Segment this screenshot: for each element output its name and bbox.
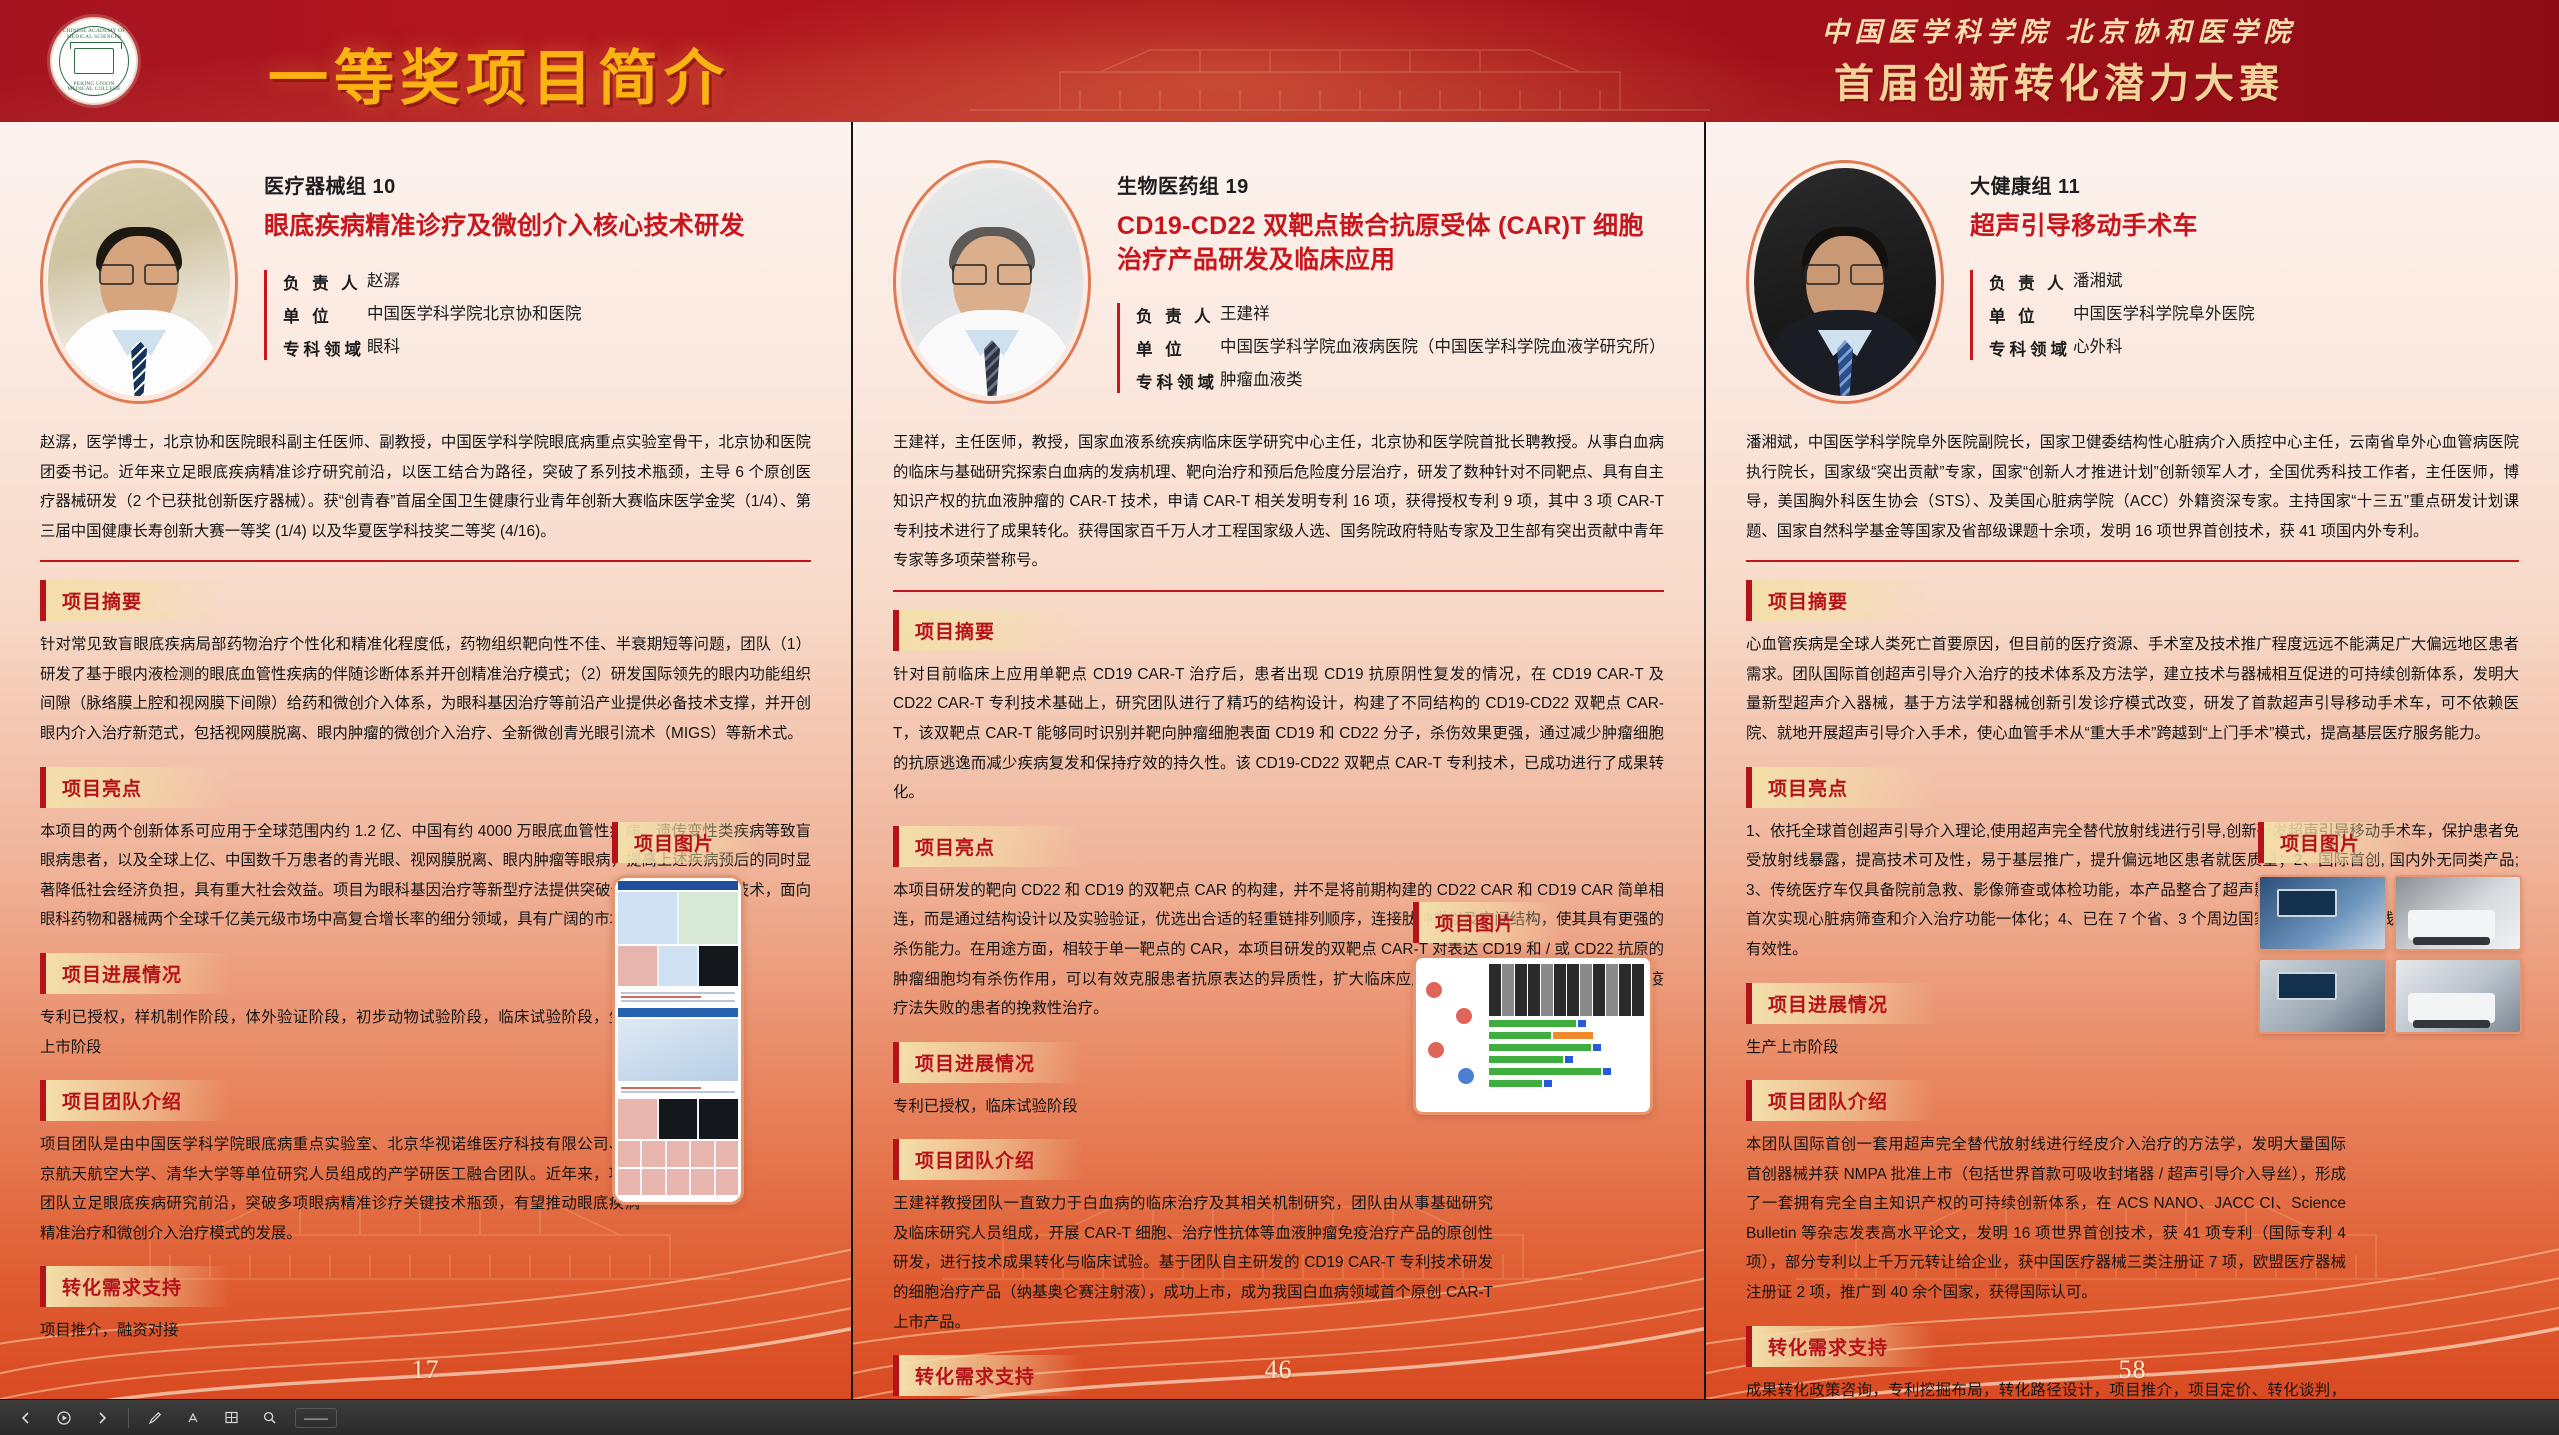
project-photo [2394, 875, 2523, 951]
project-meta: 负 责 人 潘湘斌 单 位 中国医学科学院阜外医院 专科领域 心外科 [1970, 270, 2519, 360]
figure-cell-diagram [1422, 964, 1484, 1106]
header-architecture-decoration [950, 10, 1730, 122]
section-summary: 项目摘要 针对目前临床上应用单靶点 CD19 CAR-T 治疗后，患者出现 CD… [893, 610, 1664, 808]
project-images-panel: 项目图片 [1413, 902, 1653, 1115]
figure-bar [1489, 1055, 1644, 1064]
section-divider [40, 560, 811, 562]
section-heading-images: 项目图片 [1413, 902, 1563, 943]
project-images-panel: 项目图片 [612, 822, 762, 1205]
leader-bio: 潘湘斌，中国医学科学院阜外医院副院长，国家卫健委结构性心脏病介入质控中心主任，云… [1746, 428, 2519, 546]
figure-bar [1489, 1043, 1644, 1052]
meta-label-field: 专科领域 [1989, 336, 2073, 360]
next-page-icon[interactable] [90, 1406, 114, 1430]
figure-bar [1489, 1019, 1644, 1028]
cams-pumc-logo: CHINESE ACADEMY OF MEDICAL SCIENCES PEKI… [50, 17, 138, 105]
section-divider [1746, 560, 2519, 562]
section-body-summary: 针对常见致盲眼底疾病局部药物治疗个性化和精准化程度低，药物组织靶向性不佳、半衰期… [40, 630, 811, 748]
section-heading-summary: 项目摘要 [1746, 580, 1936, 621]
logo-text-top: CHINESE ACADEMY OF MEDICAL SCIENCES [60, 29, 128, 40]
meta-row-field: 专科领域 眼科 [283, 336, 811, 360]
project-photo [2394, 958, 2523, 1034]
meta-label-unit: 单 位 [1989, 303, 2073, 327]
meta-value-field: 心外科 [2073, 336, 2519, 359]
viewer-toolbar[interactable]: —— [0, 1399, 2559, 1435]
meta-value-leader: 潘湘斌 [2073, 270, 2519, 293]
logo-text-bottom: PEKING UNION MEDICAL COLLEGE [60, 82, 128, 93]
project-title: 超声引导移动手术车 [1970, 210, 2519, 244]
section-needs: 转化需求支持 成果转化政策咨询，专利挖掘布局，转化路径设计，项目推介，项目定价、… [1746, 1326, 2519, 1399]
section-heading-team: 项目团队介绍 [893, 1139, 1083, 1180]
section-heading-progress: 项目进展情况 [40, 953, 230, 994]
section-heading-needs: 转化需求支持 [893, 1355, 1083, 1396]
meta-row-field: 专科领域 肿瘤血液类 [1136, 369, 1664, 393]
avatar [40, 160, 238, 404]
meta-row-field: 专科领域 心外科 [1989, 336, 2519, 360]
project-meta: 负 责 人 王建祥 单 位 中国医学科学院血液病医院（中国医学科学院血液学研究所… [1117, 303, 1664, 393]
project-meta: 负 责 人 赵潺 单 位 中国医学科学院北京协和医院 专科领域 眼科 [264, 270, 811, 360]
avatar [893, 160, 1091, 404]
document-page[interactable]: 生物医药组 19 CD19-CD22 双靶点嵌合抗原受体 (CAR)T 细胞治疗… [853, 122, 1706, 1399]
project-photo [2258, 958, 2387, 1034]
project-group-label: 大健康组 11 [1970, 170, 2519, 199]
previous-page-icon[interactable] [14, 1406, 38, 1430]
project-group-label: 医疗器械组 10 [264, 170, 811, 199]
section-body-team: 本团队国际首创一套用超声完全替代放射线进行经皮介入治疗的方法学，发明大量国际首创… [1746, 1130, 2346, 1307]
figure-bar [1489, 1067, 1644, 1076]
page-title: 一等奖项目简介 [268, 30, 730, 117]
meta-value-unit: 中国医学科学院阜外医院 [2073, 303, 2519, 326]
section-heading-summary: 项目摘要 [893, 610, 1083, 651]
section-heading-team: 项目团队介绍 [40, 1080, 230, 1121]
header-banner: CHINESE ACADEMY OF MEDICAL SCIENCES PEKI… [0, 0, 2559, 122]
play-icon[interactable] [52, 1406, 76, 1430]
section-body-summary: 心血管疾病是全球人类死亡首要原因，但目前的医疗资源、手术室及技术推广程度远远不能… [1746, 630, 2519, 748]
meta-label-leader: 负 责 人 [1989, 270, 2073, 294]
brand-institution: 中国医学科学院 北京协和医学院 [1679, 10, 2439, 49]
section-team: 项目团队介绍 王建祥教授团队一直致力于白血病的临床治疗及其相关机制研究，团队由从… [893, 1139, 1664, 1337]
section-heading-needs: 转化需求支持 [1746, 1326, 1936, 1367]
section-body-team: 项目团队是由中国医学科学院眼底病重点实验室、北京华视诺维医疗科技有限公司、北京航… [40, 1130, 640, 1248]
meta-row-leader: 负 责 人 王建祥 [1136, 303, 1664, 327]
profile-block: 生物医药组 19 CD19-CD22 双靶点嵌合抗原受体 (CAR)T 细胞治疗… [893, 160, 1664, 410]
section-summary: 项目摘要 针对常见致盲眼底疾病局部药物治疗个性化和精准化程度低，药物组织靶向性不… [40, 580, 811, 748]
section-team: 项目团队介绍 本团队国际首创一套用超声完全替代放射线进行经皮介入治疗的方法学，发… [1746, 1080, 2519, 1307]
leader-bio: 王建祥，主任医师，教授，国家血液系统疾病临床医学研究中心主任，北京协和医学院首批… [893, 428, 1664, 576]
zoom-level-value: —— [304, 1411, 328, 1425]
logo-gate-glyph [74, 48, 114, 74]
project-image-grid [2258, 875, 2522, 1034]
section-body-summary: 针对目前临床上应用单靶点 CD19 CAR-T 治疗后，患者出现 CD19 抗原… [893, 660, 1664, 808]
meta-row-unit: 单 位 中国医学科学院阜外医院 [1989, 303, 2519, 327]
project-image-figure [1413, 955, 1653, 1115]
section-body-progress: 专利已授权，临床试验阶段 [893, 1092, 1493, 1122]
section-heading-images: 项目图片 [2258, 822, 2408, 863]
brand-block: 中国医学科学院 北京协和医学院 首届创新转化潜力大赛 [1679, 10, 2439, 109]
highlight-icon[interactable] [181, 1406, 205, 1430]
profile-block: 大健康组 11 超声引导移动手术车 负 责 人 潘湘斌 单 位 中国医学科学院阜… [1746, 160, 2519, 410]
meta-label-leader: 负 责 人 [1136, 303, 1220, 327]
meta-row-unit: 单 位 中国医学科学院血液病医院（中国医学科学院血液学研究所） [1136, 336, 1664, 360]
meta-label-field: 专科领域 [1136, 369, 1220, 393]
meta-value-leader: 赵潺 [367, 270, 811, 293]
document-page[interactable]: 医疗器械组 10 眼底疾病精准诊疗及微创介入核心技术研发 负 责 人 赵潺 单 … [0, 122, 853, 1399]
meta-label-unit: 单 位 [1136, 336, 1220, 360]
profile-block: 医疗器械组 10 眼底疾病精准诊疗及微创介入核心技术研发 负 责 人 赵潺 单 … [40, 160, 811, 410]
pen-icon[interactable] [143, 1406, 167, 1430]
avatar [1746, 160, 1944, 404]
meta-value-field: 眼科 [367, 336, 811, 359]
layout-icon[interactable] [219, 1406, 243, 1430]
project-images-panel: 项目图片 [2258, 822, 2522, 1034]
toolbar-divider [128, 1408, 129, 1428]
meta-value-unit: 中国医学科学院北京协和医院 [367, 303, 811, 326]
figure-heatmap [1489, 964, 1644, 1016]
project-title: 眼底疾病精准诊疗及微创介入核心技术研发 [264, 210, 811, 244]
meta-row-leader: 负 责 人 潘湘斌 [1989, 270, 2519, 294]
project-group-label: 生物医药组 19 [1117, 170, 1664, 199]
section-body-team: 王建祥教授团队一直致力于白血病的临床治疗及其相关机制研究，团队由从事基础研究及临… [893, 1189, 1493, 1337]
meta-row-leader: 负 责 人 赵潺 [283, 270, 811, 294]
section-heading-progress: 项目进展情况 [1746, 983, 1936, 1024]
meta-label-leader: 负 责 人 [283, 270, 367, 294]
section-heading-progress: 项目进展情况 [893, 1042, 1083, 1083]
section-needs: 转化需求支持 项目推介，融资对接 [40, 1266, 811, 1346]
document-page[interactable]: 大健康组 11 超声引导移动手术车 负 责 人 潘湘斌 单 位 中国医学科学院阜… [1706, 122, 2559, 1399]
section-body-progress: 专利已授权，样机制作阶段，体外验证阶段，初步动物试验阶段，临床试验阶段，生产上市… [40, 1003, 640, 1062]
meta-row-unit: 单 位 中国医学科学院北京协和医院 [283, 303, 811, 327]
project-photo [2258, 875, 2387, 951]
document-pages-viewport[interactable]: 医疗器械组 10 眼底疾病精准诊疗及微创介入核心技术研发 负 责 人 赵潺 单 … [0, 122, 2559, 1435]
section-body-needs: 成果转化政策咨询，专利挖掘布局，转化路径设计，项目推介，项目定价、转化谈判，转化… [1746, 1376, 2346, 1399]
meta-value-unit: 中国医学科学院血液病医院（中国医学科学院血液学研究所） [1220, 336, 1664, 359]
section-heading-needs: 转化需求支持 [40, 1266, 230, 1307]
section-body-needs: 项目推介，融资对接 [40, 1316, 640, 1346]
meta-label-field: 专科领域 [283, 336, 367, 360]
section-needs: 转化需求支持 转化谈判，融资对接 [893, 1355, 1664, 1399]
section-summary: 项目摘要 心血管疾病是全球人类死亡首要原因，但目前的医疗资源、手术室及技术推广程… [1746, 580, 2519, 748]
search-icon[interactable] [257, 1406, 281, 1430]
project-image-phone-mockup [612, 875, 744, 1205]
meta-label-unit: 单 位 [283, 303, 367, 327]
figure-bar [1489, 1079, 1644, 1088]
page-number: 17 [0, 1355, 851, 1385]
brand-competition: 首届创新转化潜力大赛 [1679, 51, 2439, 109]
section-heading-highlights: 项目亮点 [1746, 767, 1936, 808]
project-title: CD19-CD22 双靶点嵌合抗原受体 (CAR)T 细胞治疗产品研发及临床应用 [1117, 210, 1664, 277]
section-heading-summary: 项目摘要 [40, 580, 230, 621]
section-heading-team: 项目团队介绍 [1746, 1080, 1936, 1121]
section-heading-images: 项目图片 [612, 822, 762, 863]
section-divider [893, 590, 1664, 592]
meta-value-leader: 王建祥 [1220, 303, 1664, 326]
section-heading-highlights: 项目亮点 [893, 826, 1083, 867]
meta-value-field: 肿瘤血液类 [1220, 369, 1664, 392]
zoom-level-control[interactable]: —— [295, 1408, 337, 1428]
figure-bar [1489, 1031, 1644, 1040]
leader-bio: 赵潺，医学博士，北京协和医院眼科副主任医师、副教授，中国医学科学院眼底病重点实验… [40, 428, 811, 546]
section-body-progress: 生产上市阶段 [1746, 1033, 2346, 1063]
section-heading-highlights: 项目亮点 [40, 767, 230, 808]
